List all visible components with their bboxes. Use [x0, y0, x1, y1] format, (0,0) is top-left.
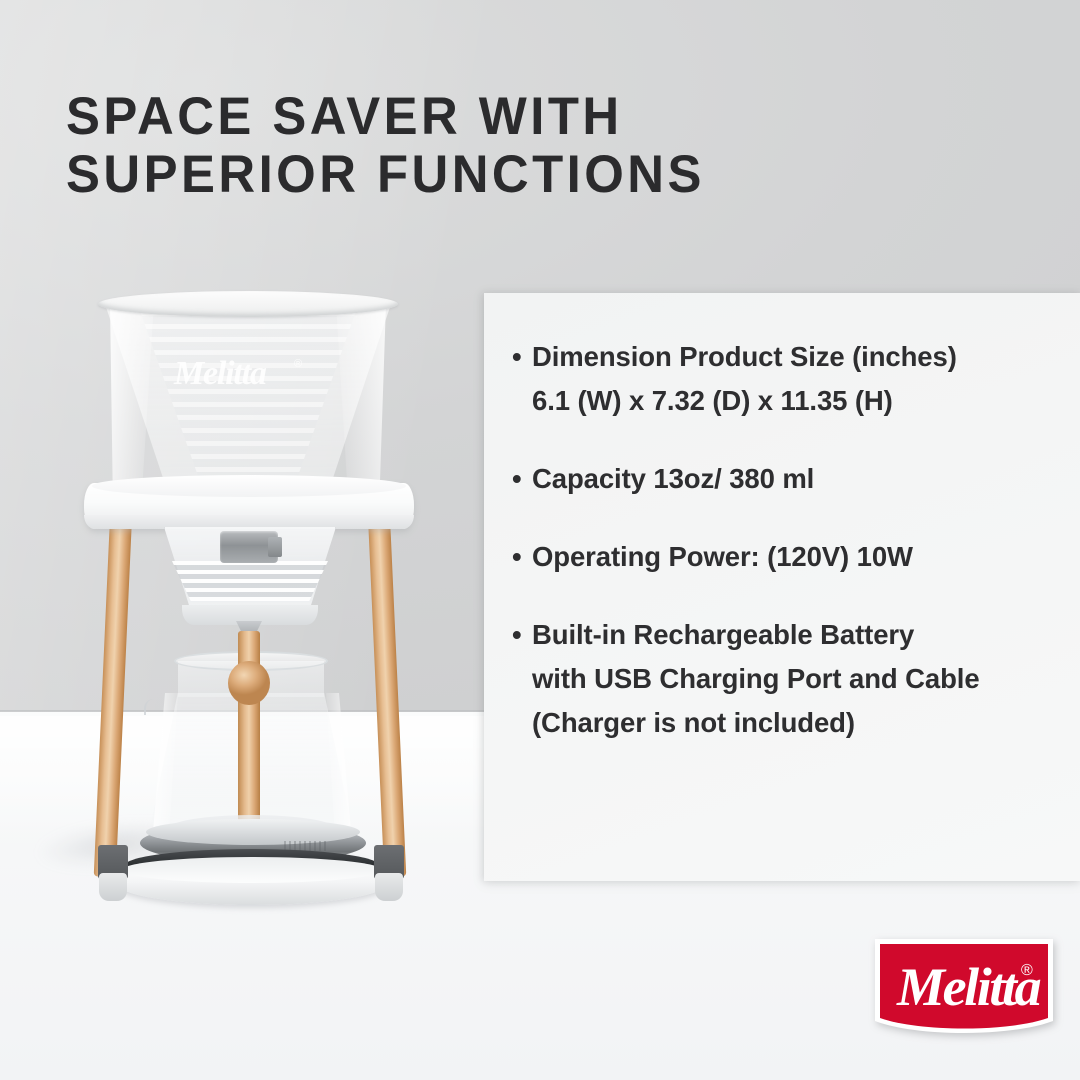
wooden-leg-right	[368, 511, 407, 878]
specifications-panel: • Dimension Product Size (inches) 6.1 (W…	[484, 293, 1080, 881]
spec-line: (Charger is not included)	[512, 701, 1066, 745]
bullet-icon: •	[512, 613, 532, 657]
spec-text: Built-in Rechargeable Battery	[532, 613, 914, 657]
leg-foot-right	[375, 873, 403, 901]
spec-line: • Dimension Product Size (inches)	[512, 335, 1066, 379]
cone-melitta-logo: Melitta ®	[170, 353, 330, 393]
spec-line: with USB Charging Port and Cable	[512, 657, 1066, 701]
product-image: Melitta ®	[40, 275, 460, 935]
glass-carafe-spout	[144, 699, 160, 715]
glass-cone-rim	[98, 291, 398, 317]
spec-line: • Built-in Rechargeable Battery	[512, 613, 1066, 657]
spec-text: Dimension Product Size (inches)	[532, 335, 957, 379]
glass-cone-highlight-left	[110, 303, 154, 483]
spec-item: • Capacity 13oz/ 380 ml	[512, 457, 1066, 501]
spec-item: • Dimension Product Size (inches) 6.1 (W…	[512, 335, 1066, 423]
bullet-icon: •	[512, 457, 532, 501]
page-title: SPACE SAVER WITH SUPERIOR FUNCTIONS	[66, 88, 834, 204]
white-platform-lip	[84, 515, 414, 529]
tank-chrome-tab	[268, 537, 282, 557]
spec-line: 6.1 (W) x 7.32 (D) x 11.35 (H)	[512, 379, 1066, 423]
spec-text: 6.1 (W) x 7.32 (D) x 11.35 (H)	[532, 379, 893, 423]
spec-text: Operating Power: (120V) 10W	[532, 535, 913, 579]
wooden-knob	[228, 661, 270, 705]
glass-cone-highlight-right	[336, 303, 386, 481]
logo-registered-mark: ®	[1021, 962, 1033, 979]
melitta-logo: Melitta ®	[871, 933, 1057, 1045]
base-white-ring-top	[122, 857, 382, 883]
svg-text:Melitta: Melitta	[173, 355, 267, 392]
logo-wordmark: Melitta	[896, 957, 1041, 1017]
spec-text: with USB Charging Port and Cable	[532, 657, 980, 701]
svg-text:®: ®	[294, 358, 302, 370]
spec-line: • Capacity 13oz/ 380 ml	[512, 457, 1066, 501]
leg-foot-left	[99, 873, 127, 901]
spec-item: • Built-in Rechargeable Battery with USB…	[512, 613, 1066, 745]
bullet-icon: •	[512, 335, 532, 379]
spec-line: • Operating Power: (120V) 10W	[512, 535, 1066, 579]
spec-item: • Operating Power: (120V) 10W	[512, 535, 1066, 579]
water-tank-bands	[172, 561, 328, 601]
white-platform-top	[92, 475, 406, 497]
marketing-image-canvas: SPACE SAVER WITH SUPERIOR FUNCTIONS Meli…	[0, 0, 1080, 1080]
bullet-icon: •	[512, 535, 532, 579]
specifications-list: • Dimension Product Size (inches) 6.1 (W…	[512, 335, 1066, 745]
spec-text: (Charger is not included)	[532, 701, 855, 745]
spec-text: Capacity 13oz/ 380 ml	[532, 457, 814, 501]
